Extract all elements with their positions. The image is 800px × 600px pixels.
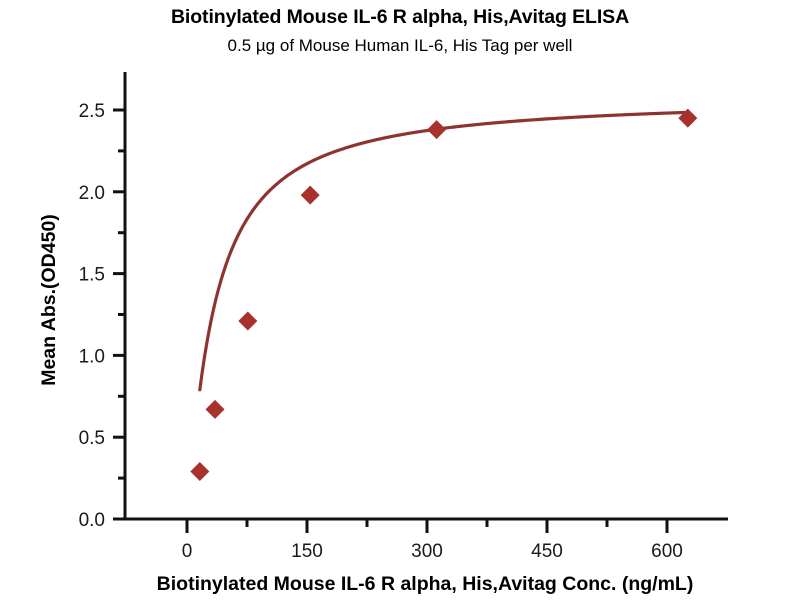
x-tick-label: 150 bbox=[291, 541, 323, 562]
y-axis-title: Mean Abs.(OD450) bbox=[38, 214, 60, 386]
fit-curve-line bbox=[200, 112, 688, 389]
y-tick-label: 0.0 bbox=[79, 510, 105, 531]
elisa-chart-figure: Biotinylated Mouse IL-6 R alpha, His,Avi… bbox=[0, 0, 800, 600]
y-tick-label: 1.0 bbox=[79, 346, 105, 367]
x-axis-tick-labels: 0 150 300 450 600 bbox=[182, 541, 683, 562]
x-axis-title: Biotinylated Mouse IL-6 R alpha, His,Avi… bbox=[157, 573, 694, 595]
x-tick-label: 600 bbox=[651, 541, 683, 562]
x-axis-major-ticks bbox=[187, 519, 667, 533]
data-point-marker bbox=[190, 462, 209, 481]
y-tick-label: 2.0 bbox=[79, 183, 105, 204]
y-tick-label: 0.5 bbox=[79, 428, 105, 449]
data-point-marker bbox=[206, 400, 225, 419]
data-point-marker bbox=[301, 186, 320, 205]
y-tick-label: 2.5 bbox=[79, 101, 105, 122]
x-tick-label: 450 bbox=[531, 541, 563, 562]
y-axis-tick-labels: 0.0 0.5 1.0 1.5 2.0 2.5 bbox=[79, 101, 105, 531]
data-point-marker bbox=[238, 312, 257, 331]
x-tick-label: 300 bbox=[411, 541, 443, 562]
data-point-marker bbox=[427, 120, 446, 139]
data-point-markers bbox=[190, 109, 697, 481]
x-tick-label: 0 bbox=[182, 541, 193, 562]
y-tick-label: 1.5 bbox=[79, 265, 105, 286]
plot-area: 0.0 0.5 1.0 1.5 2.0 2.5 0 150 300 45 bbox=[0, 0, 800, 600]
